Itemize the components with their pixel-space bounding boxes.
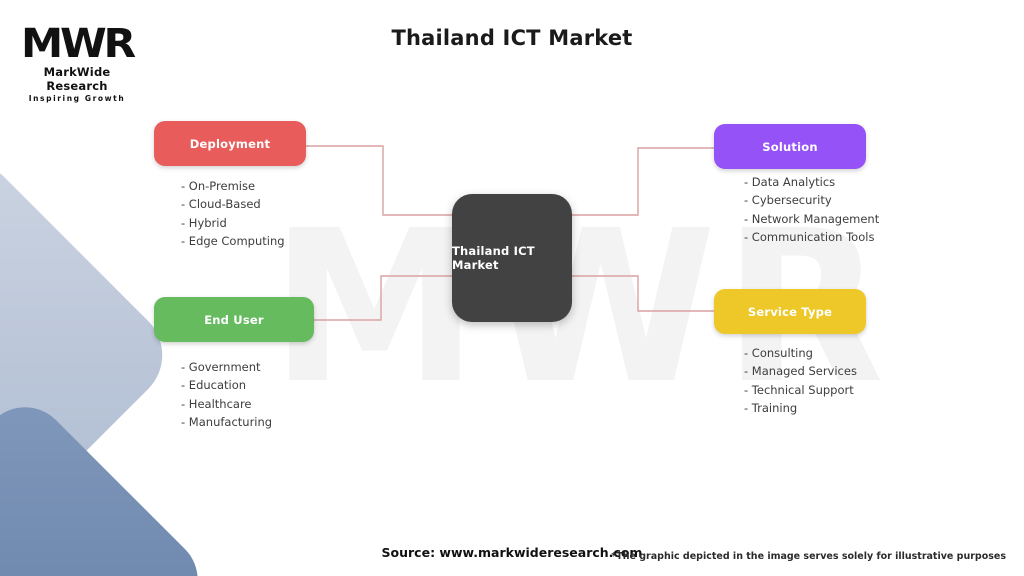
list-item: - Communication Tools: [744, 228, 879, 246]
list-item: - Education: [181, 376, 272, 394]
node-deployment[interactable]: Deployment: [154, 121, 306, 166]
connector-end-user: [314, 276, 452, 320]
node-solution[interactable]: Solution: [714, 124, 866, 169]
list-item: - Hybrid: [181, 214, 285, 232]
connector-solution: [572, 148, 714, 215]
node-deployment-label: Deployment: [190, 137, 270, 151]
bullet-list-service-type: - Consulting - Managed Services - Techni…: [744, 344, 857, 417]
list-item: - Consulting: [744, 344, 857, 362]
list-item: - On-Premise: [181, 177, 285, 195]
connector-service-type: [572, 276, 714, 311]
list-item: - Managed Services: [744, 362, 857, 380]
node-center-label: Thailand ICT Market: [452, 244, 572, 272]
list-item: - Technical Support: [744, 381, 857, 399]
list-item: - Healthcare: [181, 395, 272, 413]
bullet-list-solution: - Data Analytics - Cybersecurity - Netwo…: [744, 173, 879, 246]
list-item: - Cybersecurity: [744, 191, 879, 209]
list-item: - Manufacturing: [181, 413, 272, 431]
node-center-thailand-ict-market[interactable]: Thailand ICT Market: [452, 194, 572, 322]
bullet-list-deployment: - On-Premise - Cloud-Based - Hybrid - Ed…: [181, 177, 285, 250]
node-solution-label: Solution: [762, 140, 817, 154]
connector-deployment: [306, 146, 452, 215]
list-item: - Training: [744, 399, 857, 417]
disclaimer-text: *The graphic depicted in the image serve…: [611, 551, 1006, 562]
bullet-list-end-user: - Government - Education - Healthcare - …: [181, 358, 272, 431]
list-item: - Cloud-Based: [181, 195, 285, 213]
node-service-type[interactable]: Service Type: [714, 289, 866, 334]
node-service-type-label: Service Type: [748, 305, 832, 319]
list-item: - Government: [181, 358, 272, 376]
list-item: - Data Analytics: [744, 173, 879, 191]
list-item: - Edge Computing: [181, 232, 285, 250]
node-end-user-label: End User: [204, 313, 264, 327]
list-item: - Network Management: [744, 210, 879, 228]
node-end-user[interactable]: End User: [154, 297, 314, 342]
